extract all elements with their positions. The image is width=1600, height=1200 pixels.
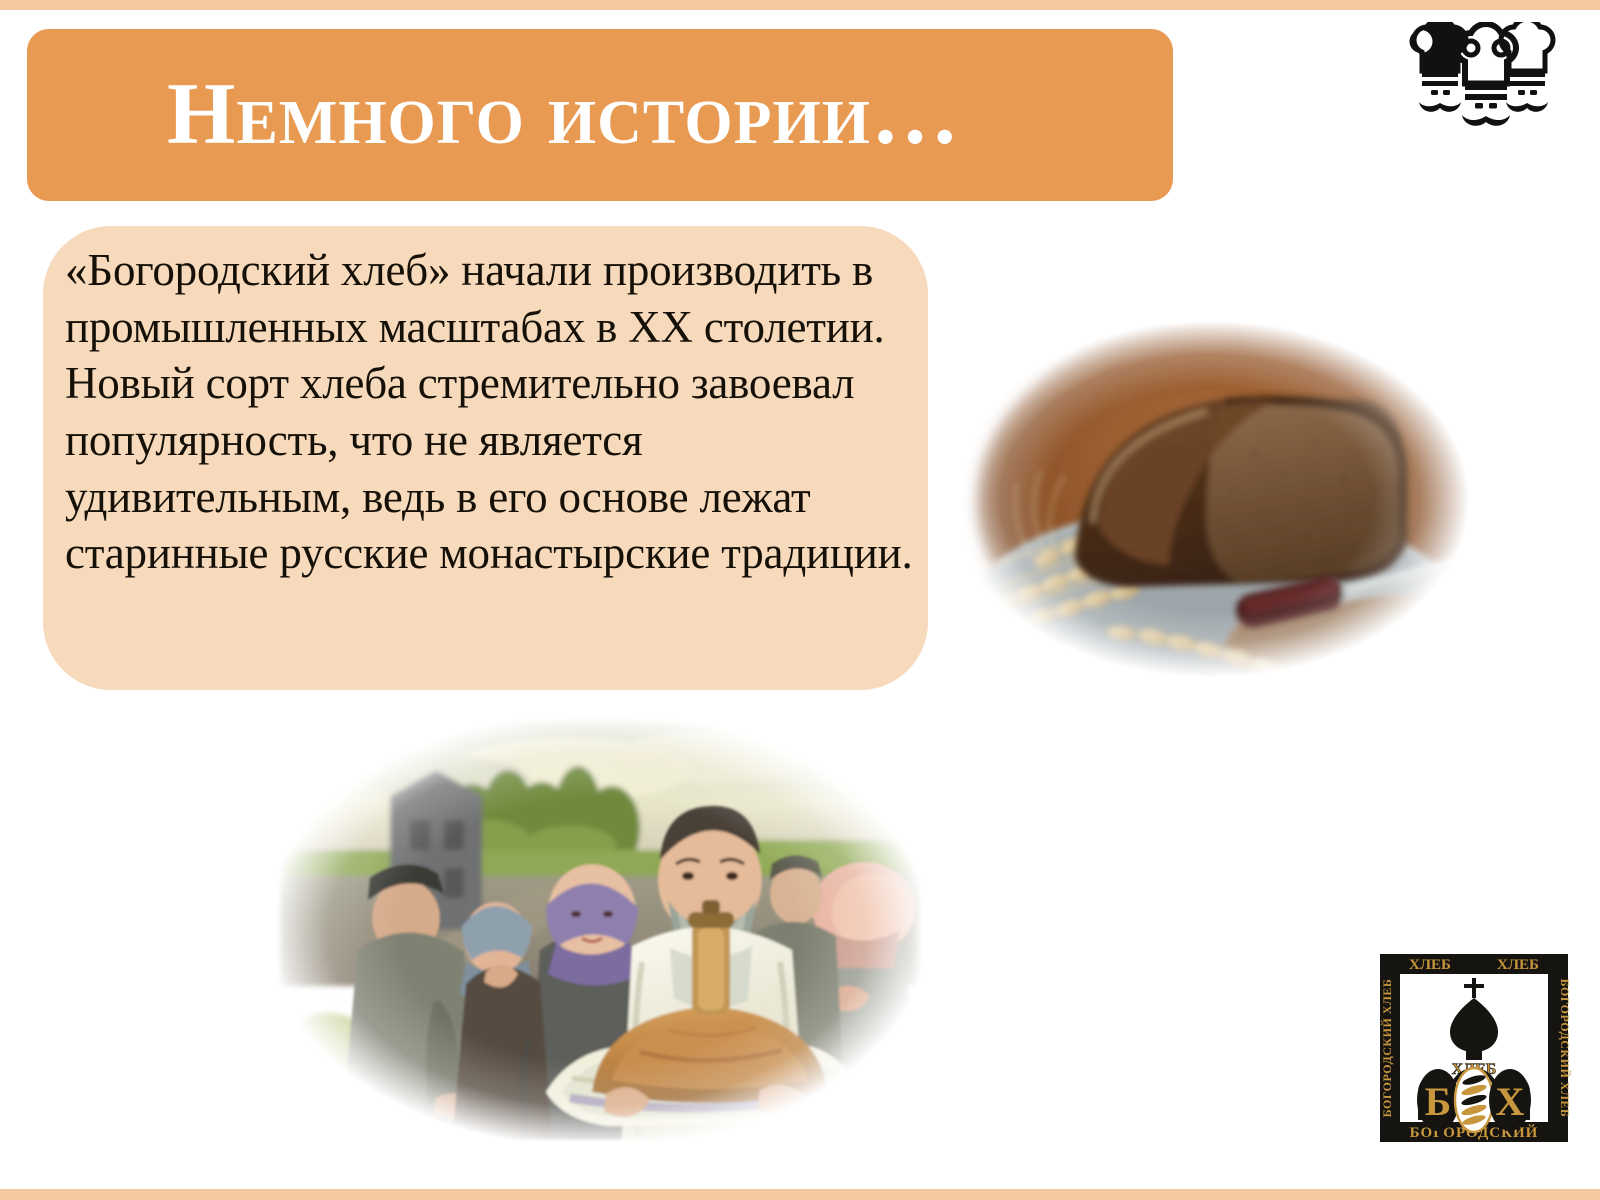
bread-photo [925, 303, 1495, 695]
logo-top-left-label: ХЛЕБ [1409, 957, 1451, 973]
top-accent-strip [0, 0, 1600, 10]
slide-title-bar: Немного истории… [27, 29, 1173, 201]
bottom-accent-strip [0, 1189, 1600, 1200]
painting-photo [240, 700, 955, 1160]
logo-letter-b: Б [1425, 1079, 1451, 1124]
logo-left-side-label: БОГОРОДСКИЙ ХЛЕБ [1380, 979, 1394, 1118]
brand-logo-bogorodsky-khleb: ХЛЕБ ХЛЕБ БОГОРОДСКИЙ БОГОРОДСКИЙ ХЛЕБ Б… [1374, 948, 1574, 1148]
page-title: Немного истории… [167, 71, 960, 159]
logo-right-side-label: БОГОРОДСКИЙ ХЛЕБ [1558, 979, 1572, 1118]
chef-hats-icon [1386, 22, 1582, 128]
chef-hat-left-icon [1410, 22, 1467, 112]
history-body-text: «Богородский хлеб» начали производить в … [65, 242, 915, 582]
logo-top-right-label: ХЛЕБ [1497, 957, 1539, 973]
slide-canvas: Немного истории… [0, 0, 1600, 1200]
logo-letter-h: Х [1496, 1079, 1525, 1124]
history-text-card: «Богородский хлеб» начали производить в … [43, 226, 928, 690]
